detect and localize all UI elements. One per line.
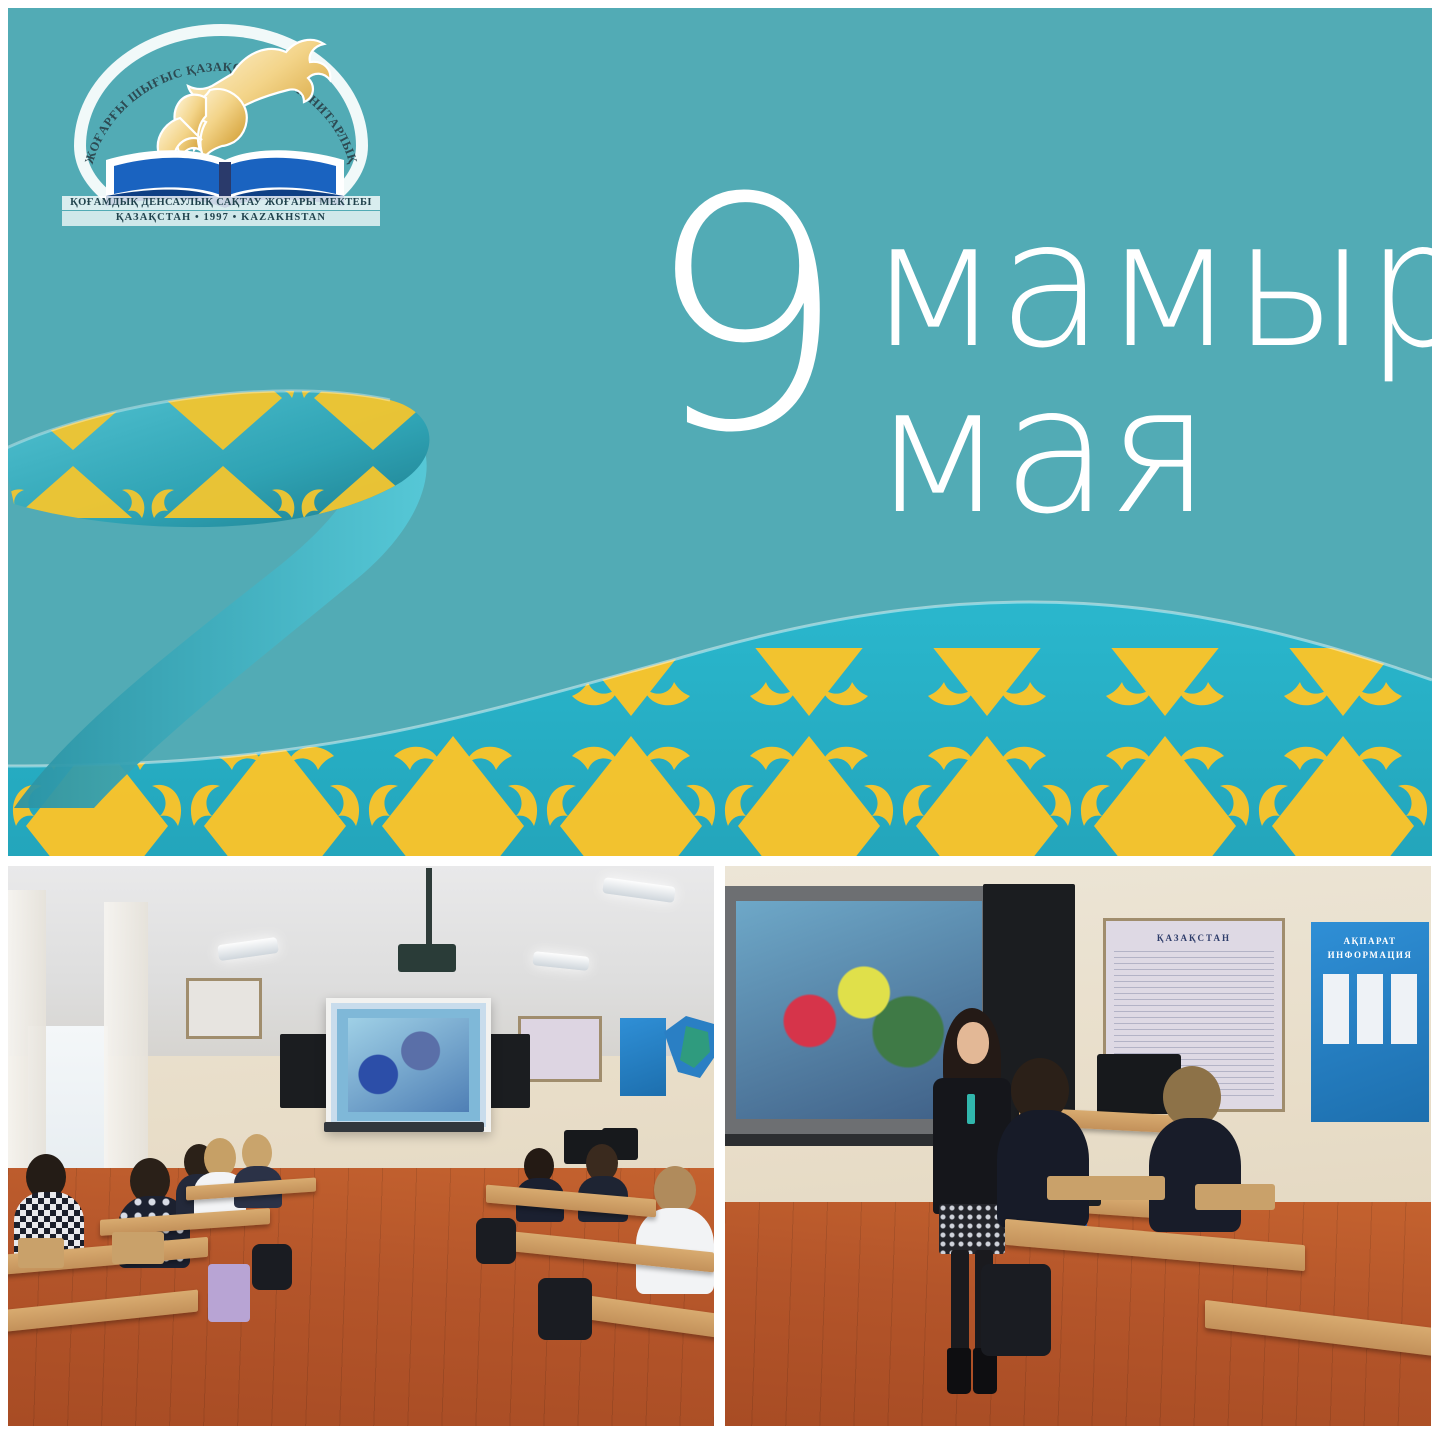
ceiling-projector-icon [398,944,456,972]
chair [18,1238,64,1268]
kazakhstan-map-decoration [660,1006,714,1098]
emblem-caption-line2: ҚАЗАҚСТАН • 1997 • KAZAKHSTAN [62,211,380,225]
board-sheet [1391,974,1417,1044]
title-day-number: 9 [644,170,842,464]
screen-base [324,1122,484,1132]
pupil-body [1149,1118,1241,1232]
emblem-caption-line1: ҚОҒАМДЫҚ ДЕНСАУЛЫҚ САҚТАУ ЖОҒАРЫ МЕКТЕБІ [62,196,380,210]
teal-ribbon-icon [967,1094,975,1124]
chair [112,1232,164,1264]
projected-slide [337,1009,480,1121]
projector-mount [426,868,432,946]
pupil-head [654,1166,696,1214]
info-poster [186,978,262,1039]
collage-canvas: ЖОҒАРҒЫ ШЫҒЫС ҚАЗАҚСТАН ГУМАНИТАРЛЫҚ [0,0,1440,1440]
tote-bag [208,1264,250,1322]
projection-screen [326,998,491,1132]
chair [1195,1184,1275,1210]
board-title-ru: ИНФОРМАЦИЯ [1311,950,1429,960]
school-emblem: ЖОҒАРҒЫ ШЫҒЫС ҚАЗАҚСТАН ГУМАНИТАРЛЫҚ [56,16,386,241]
photo-teacher-presenting: ҚАЗАҚСТАН АҚПАРАТ ИНФОРМАЦИЯ [725,866,1431,1426]
title-month-ru: мая [872,364,1209,539]
board-title-kk: АҚПАРАТ [1311,936,1429,946]
teacher-leg [951,1250,969,1356]
akparat-information-board: АҚПАРАТ ИНФОРМАЦИЯ [1311,922,1429,1122]
emblem-caption: ҚОҒАМДЫҚ ДЕНСАУЛЫҚ САҚТАУ ЖОҒАРЫ МЕКТЕБІ… [62,196,380,226]
photo-classroom-wide [8,866,714,1426]
kazakhstan-poster-title: ҚАЗАҚСТАН [1106,933,1282,943]
teacher-skirt [939,1204,1005,1254]
backpack [981,1264,1051,1356]
board-sheet [1357,974,1383,1044]
title-first-row: 9 мамыр [636,184,1396,374]
teacher-boot [947,1348,971,1394]
chair [1047,1176,1165,1200]
slide-image [348,1018,468,1112]
ornament-ribbon-loop [8,338,468,808]
backpack [538,1278,592,1340]
banner-9-may: ЖОҒАРҒЫ ШЫҒЫС ҚАЗАҚСТАН ГУМАНИТАРЛЫҚ [8,8,1432,856]
banner-title: 9 мамыр мая [636,184,1396,534]
title-month-kk: мамыр [868,198,1432,373]
board-sheet [1323,974,1349,1044]
backpack [252,1244,292,1290]
kazakhstan-poster [518,1016,602,1082]
photo-row: ҚАЗАҚСТАН АҚПАРАТ ИНФОРМАЦИЯ [8,866,1432,1432]
teacher-face [957,1022,989,1064]
pupil-body [997,1110,1089,1228]
backpack [476,1218,516,1264]
